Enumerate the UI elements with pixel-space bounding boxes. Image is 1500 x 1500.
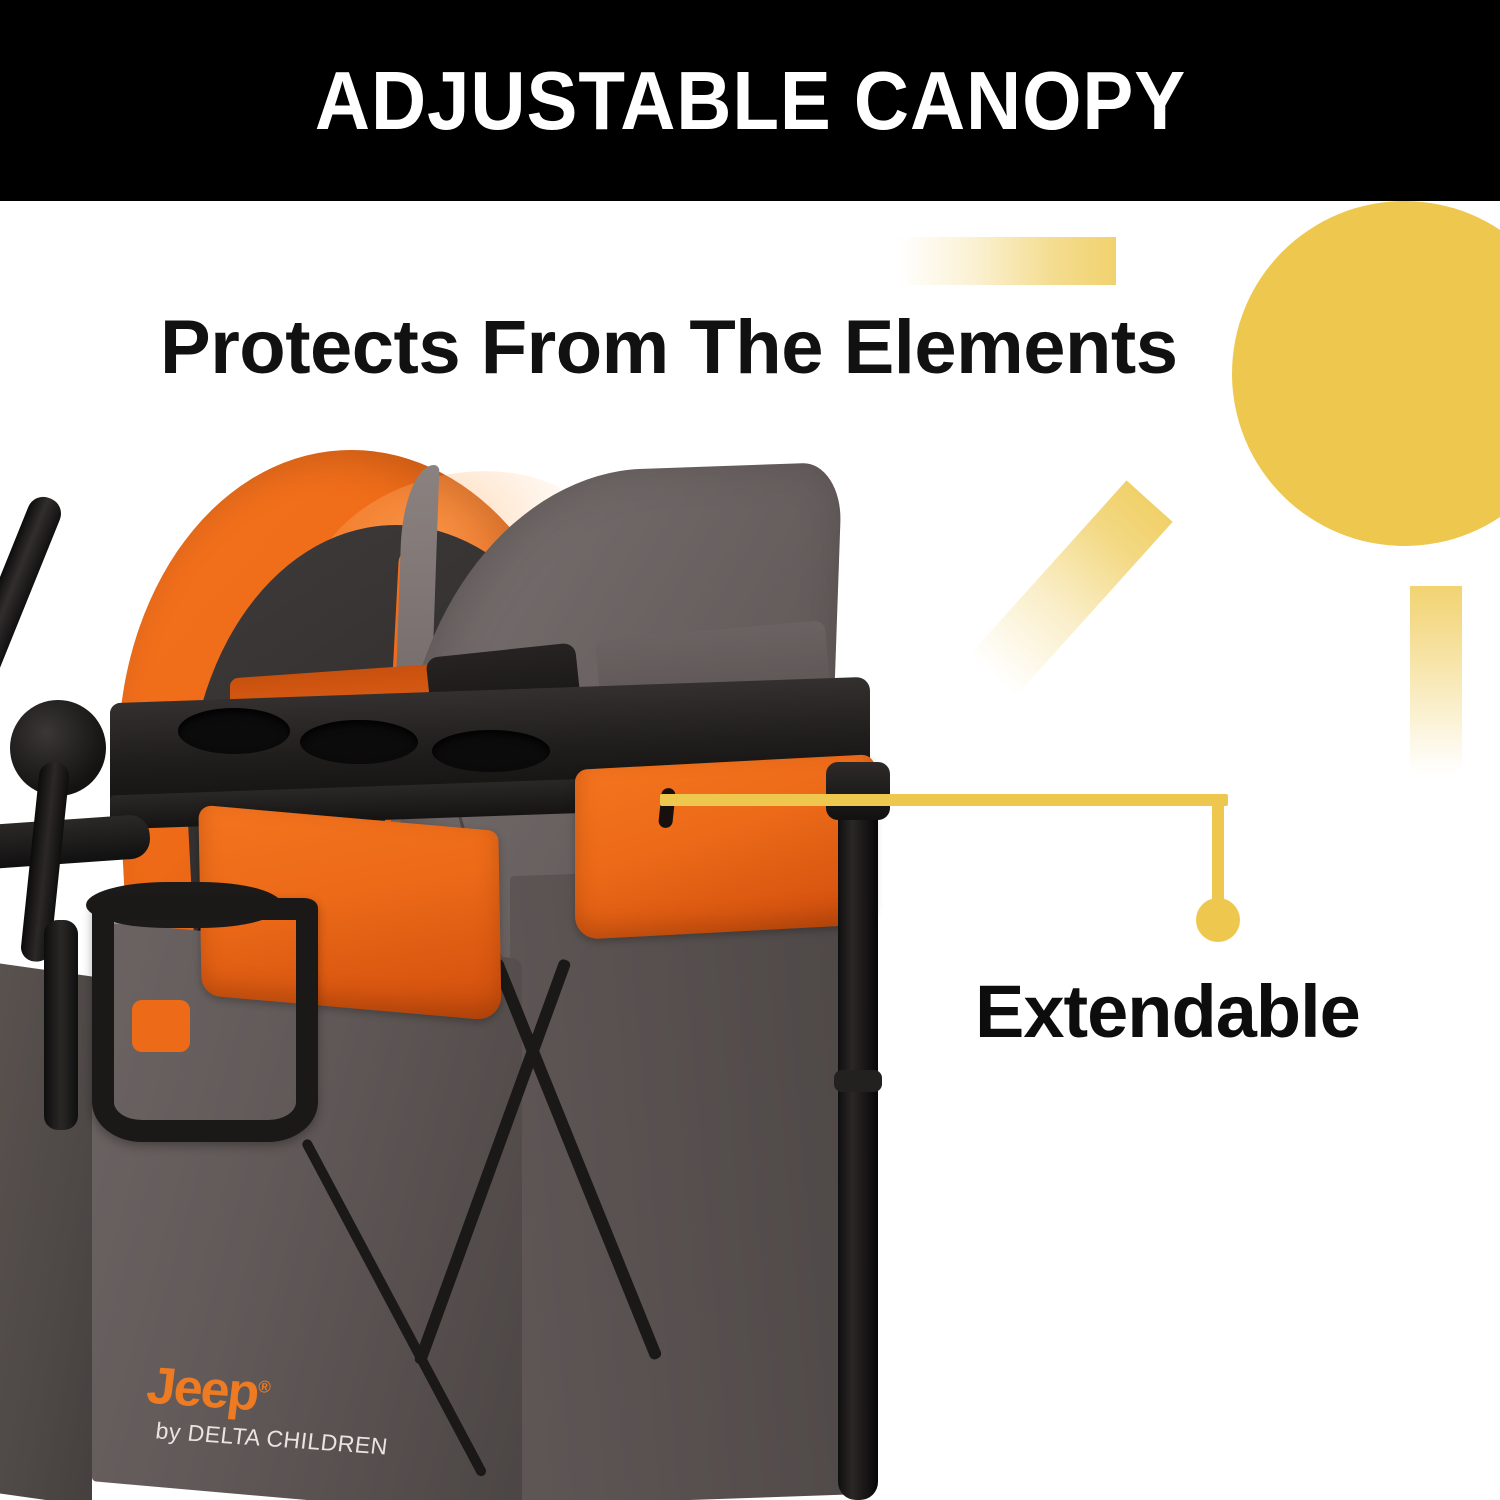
brand-name-text: Jeep (144, 1357, 261, 1422)
header-band: ADJUSTABLE CANOPY (0, 0, 1500, 201)
wagon-frame-post-joint (834, 1070, 882, 1092)
sun-ray-vertical (1410, 586, 1462, 776)
sun-ray-horizontal (898, 237, 1116, 285)
wagon-frame-post-cap (826, 762, 890, 820)
page-title: ADJUSTABLE CANOPY (314, 59, 1185, 142)
cupholder-cutout (132, 1000, 190, 1052)
subheading-text: Protects From The Elements (160, 310, 1360, 386)
sun-ray-diagonal (969, 480, 1172, 696)
callout-label-extendable: Extendable (975, 975, 1360, 1049)
registered-mark-icon: ® (257, 1377, 270, 1397)
callout-leader-line-horizontal (660, 794, 1228, 806)
tray-cup-recess (178, 708, 290, 754)
marketing-graphic: ADJUSTABLE CANOPY Protects From The Elem… (0, 0, 1500, 1500)
tray-cup-recess (432, 730, 550, 772)
wagon-handle-crossbar (0, 814, 151, 870)
tray-cup-recess (300, 720, 418, 764)
wagon-frame-post-right (838, 780, 878, 1500)
cupholder-ring (92, 898, 318, 1142)
callout-dot-marker (1196, 898, 1240, 942)
cupholder-mount-stem (44, 920, 78, 1130)
